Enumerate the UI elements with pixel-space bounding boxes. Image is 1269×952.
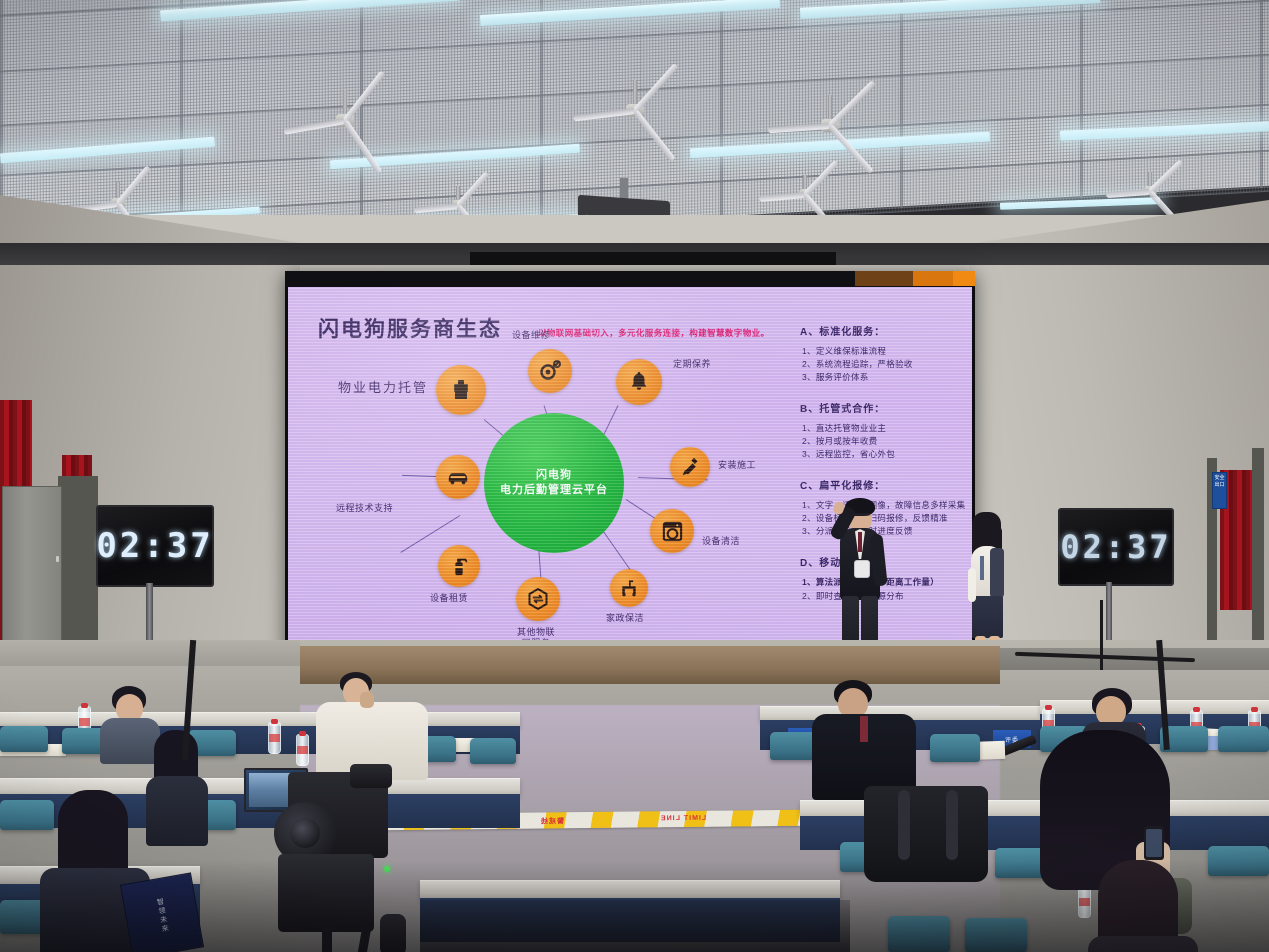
magnifier-gear-icon (538, 359, 562, 383)
chair[interactable] (888, 916, 950, 952)
tape-text-cn: 警戒线 (540, 816, 564, 826)
cleaning-cart-icon (619, 578, 639, 598)
node-equipment-cleaning[interactable] (650, 509, 694, 553)
desk-row (1040, 700, 1269, 715)
door-frame-left (58, 476, 98, 654)
section-item: 2、按月或按年收费 (802, 435, 877, 447)
node-label-equipment-rental: 设备租赁 (430, 593, 468, 604)
chair[interactable] (0, 800, 54, 830)
countdown-timer-left: 02:37 (96, 505, 214, 655)
oil-can-icon (448, 377, 474, 403)
node-other-iot[interactable] (516, 577, 560, 621)
node-regular-maintenance[interactable] (616, 359, 662, 405)
section-item: 1、定义维保标准流程 (802, 345, 886, 357)
node-label-remote-support: 远程技术支持 (336, 503, 393, 514)
video-camera (238, 762, 430, 952)
exit-sign: 安全出口 (1212, 472, 1227, 509)
door-frame-right (1252, 448, 1264, 660)
camera-shotgun-mic (380, 914, 406, 952)
node-housekeeping[interactable] (610, 569, 648, 607)
backpack (864, 786, 988, 882)
camera-record-led (384, 866, 390, 872)
door-handle-icon[interactable] (56, 556, 59, 562)
event-banner: 智领未来 (120, 872, 204, 952)
door-left (2, 486, 62, 654)
water-bottle[interactable] (1078, 886, 1091, 918)
hub-circle: 闪电狗 电力后勤管理云平台 (484, 413, 624, 553)
hub-line2: 电力后勤管理云平台 (500, 483, 608, 498)
node-label-housekeeping: 家政保洁 (606, 613, 644, 624)
chair[interactable] (470, 738, 516, 764)
node-label-installation: 安装施工 (718, 460, 756, 471)
chair[interactable] (0, 726, 48, 752)
photo-scene: 安全出口 闪电狗服务商生态 以物联网基础切入，多元化服务连接，构建智慧数字物业。… (0, 0, 1269, 952)
stage-riser (300, 646, 1000, 684)
floor-edge-left (0, 640, 300, 666)
foreground-shadow (420, 900, 850, 952)
event-banner-label: 智领未来 (154, 897, 170, 934)
hub-line1: 闪电狗 (536, 468, 572, 483)
slide-subtitle: 以物联网基础切入，多元化服务连接，构建智慧数字物业。 (538, 327, 769, 339)
node-remote-support[interactable] (436, 455, 480, 499)
camera-grip (278, 854, 374, 932)
camera-viewfinder (350, 764, 392, 788)
node-equipment-repair[interactable] (528, 349, 572, 393)
water-bottle[interactable] (268, 722, 281, 754)
backpack-strap (898, 790, 910, 860)
clock-digits-right: 02:37 (1060, 528, 1171, 566)
section-item: 2、系统流程追踪，严格验收 (802, 358, 913, 370)
node-label-equipment-cleaning: 设备清洁 (702, 536, 740, 547)
node-label-equipment-repair: 设备维修 (512, 330, 550, 341)
accent-bar-orange (953, 271, 975, 286)
backpack-strap (946, 790, 958, 860)
section-heading-c: C、扁平化报修： (800, 477, 885, 492)
washing-machine-icon (661, 520, 684, 543)
fire-extinguisher-icon (448, 555, 470, 577)
chair[interactable] (1218, 726, 1269, 752)
slide-title: 闪电狗服务商生态 (318, 313, 502, 343)
node-label-regular-maintenance: 定期保养 (673, 359, 711, 370)
clock-digits-left: 02:37 (96, 526, 213, 566)
section-heading-a: A、标准化服务： (800, 323, 885, 338)
node-equipment-rental[interactable] (438, 545, 480, 587)
section-item: 3、服务评价体系 (802, 371, 869, 383)
vehicle-icon (446, 467, 470, 487)
node-installation[interactable] (670, 447, 710, 487)
desk-row (420, 880, 840, 899)
camera-lens-inner (290, 818, 320, 848)
section-item: 1、直达托管物业业主 (802, 422, 886, 434)
section-item: 3、远程监控，省心外包 (802, 448, 895, 460)
accent-bar-dark (855, 271, 913, 286)
tripod-leg (322, 928, 332, 952)
section-heading-b: B、托管式合作： (800, 400, 885, 415)
hexagon-exchange-icon (526, 587, 550, 611)
exit-sign-label: 安全出口 (1213, 473, 1226, 489)
node-oil-can[interactable] (436, 365, 486, 415)
chair[interactable] (930, 734, 980, 762)
bell-icon (628, 371, 650, 393)
countdown-timer-right: 02:37 (1058, 508, 1174, 658)
lead-label: 物业电力托管 (338, 377, 428, 396)
accent-bar-mid (913, 271, 953, 286)
chair[interactable] (965, 918, 1027, 952)
floor-cable (1100, 600, 1103, 670)
tape-text-en: LIMIT LINE (660, 815, 706, 822)
chair[interactable] (1208, 846, 1269, 876)
wall-shadow-band (470, 252, 836, 265)
hand-tool-icon (680, 457, 701, 478)
